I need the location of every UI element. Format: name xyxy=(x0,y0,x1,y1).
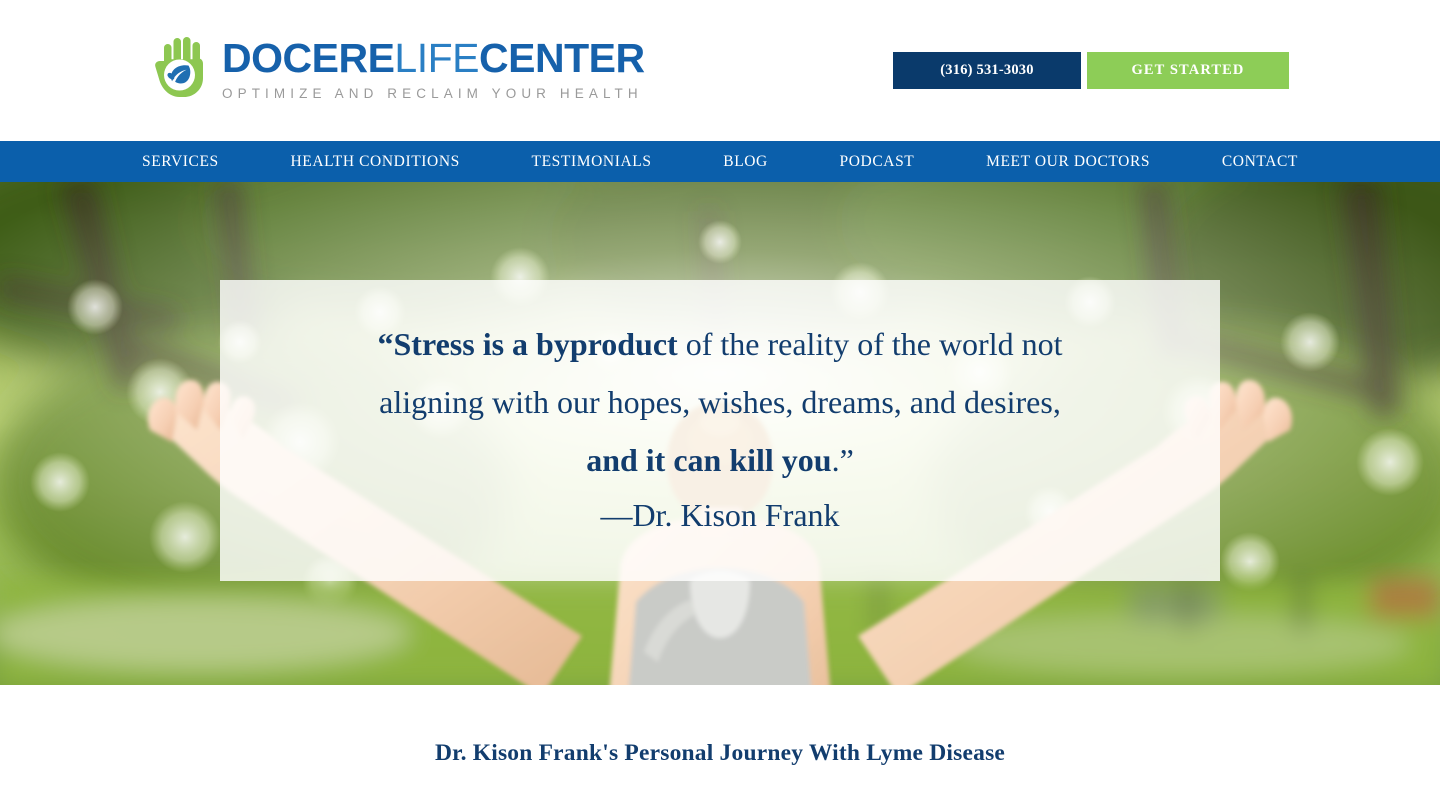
main-navigation: SERVICES HEALTH CONDITIONS TESTIMONIALS … xyxy=(0,141,1440,182)
quote-line-3: and it can kill you.” xyxy=(586,431,854,489)
quote-line-1: “Stress is a byproduct of the reality of… xyxy=(378,315,1063,373)
logo-word-docere: DOCERE xyxy=(222,35,394,81)
site-header: DOCERELIFECENTER OPTIMIZE AND RECLAIM YO… xyxy=(0,0,1440,141)
nav-item-services[interactable]: SERVICES xyxy=(142,153,219,171)
quote-line-1-rest: of the reality of the world not xyxy=(678,326,1063,362)
quote-line-2: aligning with our hopes, wishes, dreams,… xyxy=(379,373,1061,431)
quote-line-3-rest: .” xyxy=(832,442,854,478)
article-section: Dr. Kison Frank's Personal Journey With … xyxy=(0,685,1440,810)
nav-item-podcast[interactable]: PODCAST xyxy=(840,153,915,171)
logo-text: DOCERELIFECENTER OPTIMIZE AND RECLAIM YO… xyxy=(222,33,645,101)
nav-item-meet-our-doctors[interactable]: MEET OUR DOCTORS xyxy=(986,153,1150,171)
quote-line-3-bold: and it can kill you xyxy=(586,442,831,478)
logo-wordmark: DOCERELIFECENTER xyxy=(222,35,645,81)
nav-item-health-conditions[interactable]: HEALTH CONDITIONS xyxy=(290,153,459,171)
nav-item-testimonials[interactable]: TESTIMONIALS xyxy=(532,153,652,171)
hand-leaf-logo-icon xyxy=(152,33,214,105)
get-started-button[interactable]: GET STARTED xyxy=(1087,52,1289,89)
hero-quote-box: “Stress is a byproduct of the reality of… xyxy=(220,280,1220,581)
quote-line-1-bold: “Stress is a byproduct xyxy=(378,326,678,362)
site-logo[interactable]: DOCERELIFECENTER OPTIMIZE AND RECLAIM YO… xyxy=(152,33,645,105)
nav-items-container: SERVICES HEALTH CONDITIONS TESTIMONIALS … xyxy=(130,153,1310,171)
logo-word-center: CENTER xyxy=(479,35,645,81)
hero-section: “Stress is a byproduct of the reality of… xyxy=(0,182,1440,685)
logo-word-life: LIFE xyxy=(394,35,479,81)
header-actions: (316) 531-3030 GET STARTED xyxy=(893,52,1289,89)
nav-item-contact[interactable]: CONTACT xyxy=(1222,153,1298,171)
nav-item-blog[interactable]: BLOG xyxy=(723,153,768,171)
quote-attribution: —Dr. Kison Frank xyxy=(600,491,839,539)
phone-button[interactable]: (316) 531-3030 xyxy=(893,52,1081,89)
logo-tagline: OPTIMIZE AND RECLAIM YOUR HEALTH xyxy=(222,86,645,101)
article-title: Dr. Kison Frank's Personal Journey With … xyxy=(435,740,1005,767)
